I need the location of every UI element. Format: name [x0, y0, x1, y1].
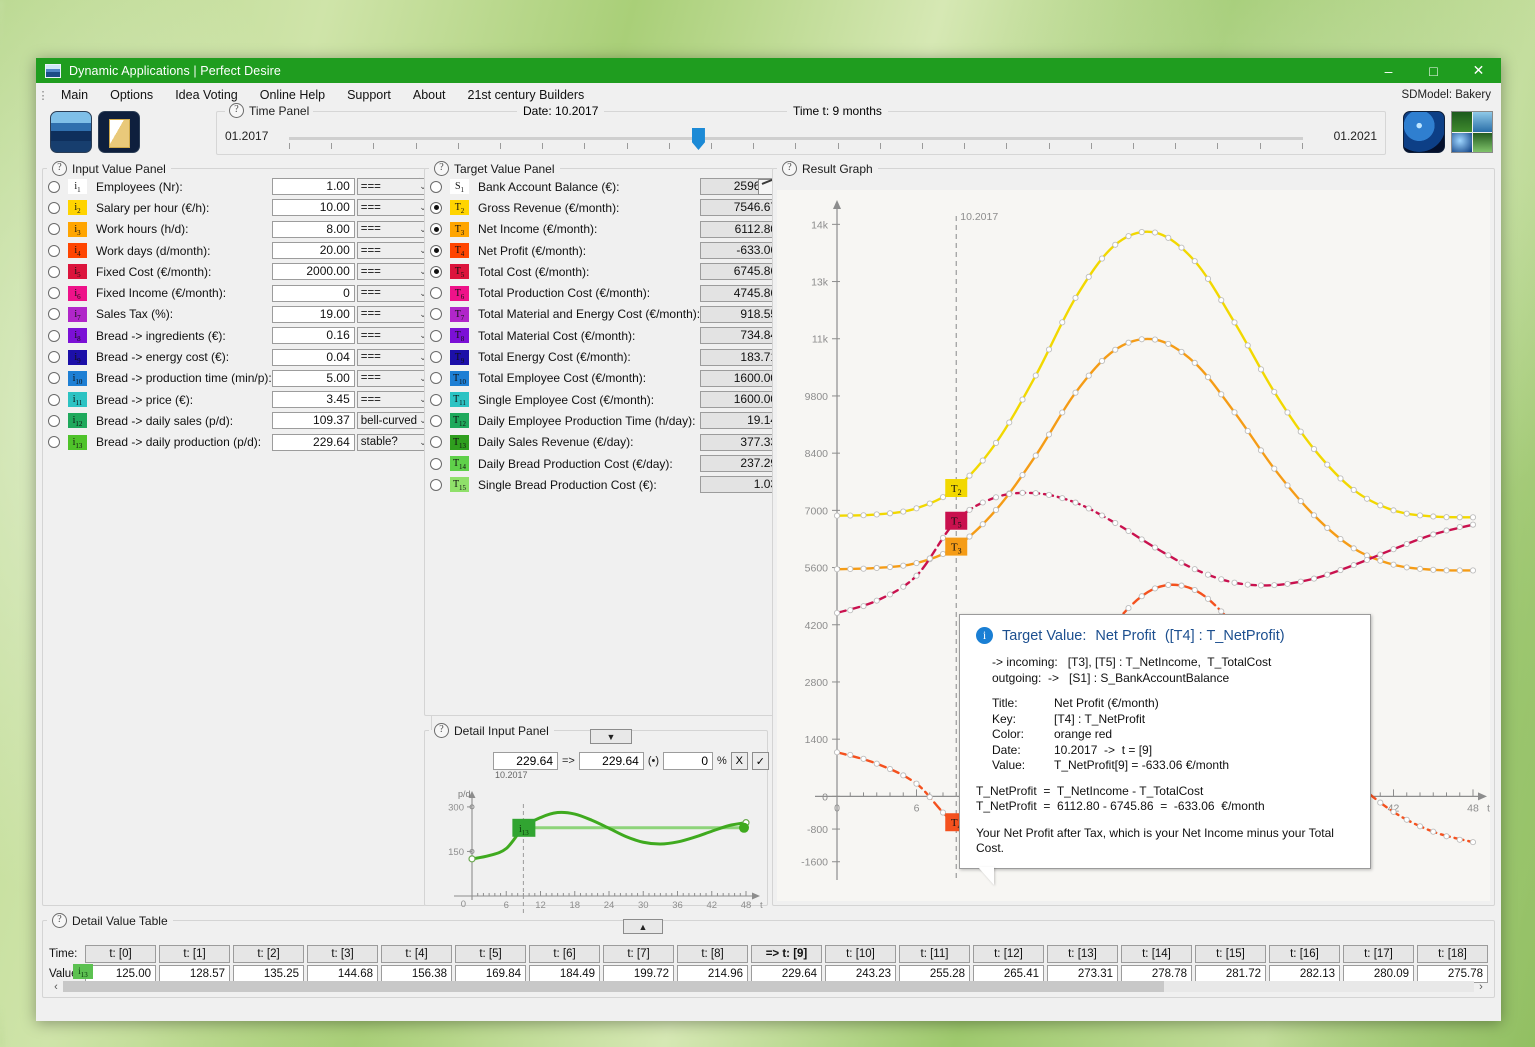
detail-table-col-header[interactable]: t: [3] [307, 945, 378, 963]
target-label-T4: Net Profit (€/month): [478, 244, 700, 258]
detail-table-toggle-button[interactable]: ▲ [623, 919, 663, 934]
target-radio-T12[interactable] [430, 415, 442, 427]
tooltip-title-prefix: Target Value: [1002, 628, 1086, 644]
menu-item-21st-century-builders[interactable]: 21st century Builders [457, 86, 596, 104]
detail-table-grid: Time: t: [0]t: [1]t: [2]t: [3]t: [4]t: [… [49, 944, 1488, 984]
tooltip-row-value: 10.2017 -> t = [9] [1054, 743, 1152, 757]
target-row-T15: T15Single Bread Production Cost (€):1.03 [425, 474, 786, 495]
target-badge-T13: T13 [450, 435, 469, 450]
svg-text:42: 42 [706, 900, 717, 911]
detail-input-dot-icon[interactable]: (•) [648, 755, 659, 767]
input-field-i1[interactable]: 1.00 [272, 178, 355, 195]
input-row-i12: i12Bread -> daily sales (p/d):109.37bell… [43, 410, 431, 431]
detail-table-col-header[interactable]: t: [2] [233, 945, 304, 963]
target-row-T3: T3Net Income (€/month):6112.80 [425, 219, 786, 240]
input-label-i2: Salary per hour (€/h): [96, 201, 272, 215]
time-start-label: 01.2017 [225, 129, 268, 143]
input-badge-i10: i10 [68, 371, 87, 386]
target-label-T3: Net Income (€/month): [478, 222, 700, 236]
target-badge-T15: T15 [450, 477, 469, 492]
input-badge-i1: i1 [68, 179, 87, 194]
target-value-T11: 1600.00 [700, 391, 782, 408]
input-row-i6: i6Fixed Income (€/month):0===⌄ [43, 282, 431, 303]
input-badge-i12: i12 [68, 413, 87, 428]
target-value-T6: 4745.86 [700, 285, 782, 302]
graph-series-tag-T2[interactable]: T2 [945, 479, 967, 497]
target-badge-T10: T10 [450, 371, 469, 386]
input-label-i10: Bread -> production time (min/p): [96, 371, 272, 385]
input-radio-i13[interactable] [48, 436, 60, 448]
detail-table-scrollbar[interactable]: ‹ › [49, 980, 1488, 993]
detail-input-title: Detail Input Panel [454, 724, 549, 738]
input-mode-select-i2[interactable]: ===⌄ [357, 199, 431, 216]
detail-table-col-header[interactable]: t: [4] [381, 945, 452, 963]
input-badge-i7: i7 [68, 307, 87, 322]
target-panel-title: Target Value Panel [454, 162, 555, 176]
svg-text:12: 12 [535, 900, 546, 911]
input-mode-select-i7[interactable]: ===⌄ [357, 306, 431, 323]
target-label-T14: Daily Bread Production Cost (€/day): [478, 457, 700, 471]
tooltip-row-key: Color: [992, 727, 1054, 743]
target-value-T14: 237.29 [700, 455, 782, 472]
input-badge-i3: i3 [68, 222, 87, 237]
input-label-i11: Bread -> price (€): [96, 393, 272, 407]
input-value-panel: ? Input Value Panel i1Employees (Nr):1.0… [42, 161, 432, 906]
input-label-i3: Work hours (h/d): [96, 222, 272, 236]
input-badge-i5: i5 [68, 264, 87, 279]
input-radio-i5[interactable] [48, 266, 60, 278]
target-value-T4: -633.06 [700, 242, 782, 259]
input-mode-select-i4[interactable]: ===⌄ [357, 242, 431, 259]
target-badge-T3: T3 [450, 222, 469, 237]
menu-item-support[interactable]: Support [336, 86, 402, 104]
target-row-T8: T8Total Material Cost (€/month):734.84 [425, 325, 786, 346]
title-bar: Dynamic Applications | Perfect Desire – … [36, 58, 1501, 83]
input-field-i2[interactable]: 10.00 [272, 199, 355, 216]
menu-item-idea-voting[interactable]: Idea Voting [164, 86, 249, 104]
window-title: Dynamic Applications | Perfect Desire [69, 64, 1366, 78]
application-window: Dynamic Applications | Perfect Desire – … [36, 58, 1501, 1021]
target-label-T2: Gross Revenue (€/month): [478, 201, 700, 215]
svg-text:p/d: p/d [458, 789, 471, 799]
detail-input-marker-tag[interactable]: i13 [512, 819, 535, 837]
help-icon[interactable]: ? [434, 161, 449, 176]
scroll-right-arrow[interactable]: › [1474, 981, 1488, 993]
close-button[interactable]: ✕ [1456, 58, 1501, 83]
target-value-T2: 7546.67 [700, 199, 782, 216]
tooltip-row-key: Title: [992, 696, 1054, 712]
detail-table-legend: ? Detail Value Table [47, 913, 173, 928]
tooltip-outgoing: outgoing: -> [S1] : S_BankAccountBalance [992, 671, 1356, 687]
detail-table-col-header[interactable]: t: [6] [529, 945, 600, 963]
toolbar: ? Time Panel Date: 10.2017 Time t: 9 mon… [36, 107, 1501, 157]
tooltip-row: Title:Net Profit (€/month) [992, 696, 1356, 712]
target-radio-S1[interactable] [430, 181, 442, 193]
help-icon[interactable]: ? [434, 723, 449, 738]
tooltip-row-value: [T4] : T_NetProfit [1054, 712, 1145, 726]
target-value-T9: 183.71 [700, 349, 782, 366]
input-row-i13: i13Bread -> daily production (p/d):229.6… [43, 432, 431, 453]
help-icon[interactable]: ? [782, 161, 797, 176]
input-radio-i2[interactable] [48, 202, 60, 214]
scrollbar-thumb[interactable] [63, 981, 1164, 992]
target-radio-T2[interactable] [430, 202, 442, 214]
input-mode-select-i10[interactable]: ===⌄ [357, 370, 431, 387]
input-badge-i8: i8 [68, 328, 87, 343]
target-badge-T12: T12 [450, 413, 469, 428]
input-field-i8[interactable]: 0.16 [272, 327, 355, 344]
input-badge-i6: i6 [68, 286, 87, 301]
tooltip-row-value: Net Profit (€/month) [1054, 696, 1159, 710]
input-mode-select-i1[interactable]: ===⌄ [357, 178, 431, 195]
target-row-T4: T4Net Profit (€/month):-633.06 [425, 240, 786, 261]
input-radio-i8[interactable] [48, 330, 60, 342]
target-label-T5: Total Cost (€/month): [478, 265, 700, 279]
app-logo-icon [45, 64, 61, 78]
detail-input-date-marker: 10.2017 [495, 770, 528, 780]
svg-text:0: 0 [834, 802, 840, 814]
input-mode-select-i12[interactable]: bell-curved⌄ [357, 412, 431, 429]
target-value-T7: 918.55 [700, 306, 782, 323]
tooltip-row-value: T_NetProfit[9] = -633.06 €/month [1054, 758, 1229, 772]
svg-text:6: 6 [504, 900, 509, 911]
target-row-T6: T6Total Production Cost (€/month):4745.8… [425, 282, 786, 303]
tooltip-row-key: Value: [992, 758, 1054, 774]
input-field-i5[interactable]: 2000.00 [272, 263, 355, 280]
target-radio-T9[interactable] [430, 351, 442, 363]
detail-input-arrow: => [562, 755, 575, 767]
target-badge-T9: T9 [450, 350, 469, 365]
input-field-i4[interactable]: 20.00 [272, 242, 355, 259]
input-radio-i12[interactable] [48, 415, 60, 427]
target-value-T13: 377.33 [700, 434, 782, 451]
detail-table-col-header[interactable]: t: [10] [825, 945, 896, 963]
input-mode-select-i3[interactable]: ===⌄ [357, 221, 431, 238]
time-row-label: Time: [49, 948, 85, 960]
input-row-i5: i5Fixed Cost (€/month):2000.00===⌄ [43, 261, 431, 282]
detail-table-col-header[interactable]: t: [1] [159, 945, 230, 963]
detail-table-col-header[interactable]: t: [14] [1121, 945, 1192, 963]
svg-text:t: t [760, 900, 763, 911]
info-icon: i [976, 627, 993, 644]
input-row-i10: i10Bread -> production time (min/p):5.00… [43, 368, 431, 389]
tooltip-row: Date:10.2017 -> t = [9] [992, 743, 1356, 759]
target-value-tooltip: i Target Value: Net Profit ([T4] : T_Net… [959, 614, 1371, 869]
target-radio-T5[interactable] [430, 266, 442, 278]
svg-text:2800: 2800 [805, 677, 829, 689]
detail-table-col-header[interactable]: => t: [9] [751, 945, 822, 963]
target-radio-T10[interactable] [430, 372, 442, 384]
input-panel-legend: ? Input Value Panel [47, 161, 171, 176]
target-badge-T11: T11 [450, 392, 469, 407]
target-row-T7: T7Total Material and Energy Cost (€/mont… [425, 304, 786, 325]
tooltip-formula-1: T_NetProfit = T_NetIncome - T_TotalCost [976, 784, 1356, 800]
time-t-label: Time t: 9 months [787, 104, 888, 118]
input-mode-select-i5[interactable]: ===⌄ [357, 263, 431, 280]
input-field-i10[interactable]: 5.00 [272, 370, 355, 387]
svg-text:8400: 8400 [805, 448, 829, 460]
svg-text:5600: 5600 [805, 563, 829, 575]
input-row-i7: i7Sales Tax (%):19.00===⌄ [43, 304, 431, 325]
svg-text:0: 0 [461, 899, 466, 910]
help-icon[interactable]: ? [52, 161, 67, 176]
input-label-i1: Employees (Nr): [96, 180, 272, 194]
detail-input-value-from[interactable]: 229.64 [493, 752, 558, 770]
input-label-i8: Bread -> ingredients (€): [96, 329, 272, 343]
svg-text:6: 6 [914, 802, 920, 814]
detail-input-panel: ? Detail Input Panel ▼ 229.64 => 229.64 … [424, 723, 768, 906]
detail-input-controls: 229.64 => 229.64 (•) 0 % X ✓ [493, 752, 769, 770]
menu-item-main[interactable]: Main [50, 86, 99, 104]
target-label-T15: Single Bread Production Cost (€): [478, 478, 700, 492]
svg-text:-800: -800 [807, 824, 828, 836]
input-row-i4: i4Work days (d/month):20.00===⌄ [43, 240, 431, 261]
target-radio-T11[interactable] [430, 394, 442, 406]
minimize-button[interactable]: – [1366, 58, 1411, 83]
target-radio-T8[interactable] [430, 330, 442, 342]
target-value-T8: 734.84 [700, 327, 782, 344]
detail-input-cancel-button[interactable]: X [731, 752, 748, 770]
target-row-S1: S1Bank Account Balance (€):2596.37 [425, 176, 786, 197]
target-label-T6: Total Production Cost (€/month): [478, 286, 700, 300]
detail-table-col-header[interactable]: t: [12] [973, 945, 1044, 963]
time-slider-ticks [289, 143, 1303, 152]
input-label-i12: Bread -> daily sales (p/d): [96, 414, 272, 428]
detail-input-value-to[interactable]: 229.64 [579, 752, 644, 770]
tooltip-row-value: orange red [1054, 727, 1112, 741]
input-badge-i9: i9 [68, 350, 87, 365]
result-graph-title: Result Graph [802, 162, 873, 176]
detail-table-col-header[interactable]: t: [17] [1343, 945, 1414, 963]
target-row-T9: T9Total Energy Cost (€/month):183.71 [425, 346, 786, 367]
svg-text:t: t [1487, 802, 1490, 814]
target-badge-T2: T2 [450, 200, 469, 215]
detail-value-table-panel: ? Detail Value Table ▲ Time: t: [0]t: [1… [42, 913, 1495, 998]
menu-item-online-help[interactable]: Online Help [249, 86, 336, 104]
input-row-i8: i8Bread -> ingredients (€):0.16===⌄ [43, 325, 431, 346]
input-badge-i11: i11 [68, 392, 87, 407]
detail-table-col-header[interactable]: t: [13] [1047, 945, 1118, 963]
input-row-i1: i1Employees (Nr):1.00===⌄ [43, 176, 431, 197]
input-label-i4: Work days (d/month): [96, 244, 272, 258]
svg-text:4200: 4200 [805, 620, 829, 632]
time-date-label: Date: 10.2017 [517, 104, 604, 118]
input-mode-select-i13[interactable]: stable?⌄ [357, 434, 431, 451]
globe-icon[interactable] [1403, 111, 1445, 153]
svg-text:48: 48 [741, 900, 752, 911]
svg-text:30: 30 [638, 900, 649, 911]
input-label-i5: Fixed Cost (€/month): [96, 265, 272, 279]
target-value-T10: 1600.00 [700, 370, 782, 387]
time-panel-title: Time Panel [249, 104, 309, 118]
target-label-S1: Bank Account Balance (€): [478, 180, 700, 194]
input-badge-i13: i13 [68, 435, 87, 450]
result-graph-legend: ? Result Graph [777, 161, 878, 176]
input-mode-select-i8[interactable]: ===⌄ [357, 327, 431, 344]
sdmodel-label: SDModel: Bakery [1402, 89, 1491, 101]
maximize-button[interactable]: □ [1411, 58, 1456, 83]
graph-series-tag-T3[interactable]: T3 [945, 538, 967, 556]
menu-item-options[interactable]: Options [99, 86, 164, 104]
image-grid-icon[interactable] [1451, 111, 1493, 153]
svg-text:18: 18 [569, 900, 580, 911]
detail-table-col-header[interactable]: t: [8] [677, 945, 748, 963]
percent-sign: % [717, 755, 727, 767]
svg-text:150: 150 [448, 847, 464, 858]
detail-table-col-header[interactable]: t: [15] [1195, 945, 1266, 963]
help-icon[interactable]: ? [52, 913, 67, 928]
input-badge-i4: i4 [68, 243, 87, 258]
target-badge-S1: S1 [450, 179, 469, 194]
svg-text:0: 0 [822, 791, 828, 803]
target-radio-T3[interactable] [430, 223, 442, 235]
target-radio-T7[interactable] [430, 308, 442, 320]
detail-table-col-header[interactable]: t: [18] [1417, 945, 1488, 963]
svg-text:1400: 1400 [805, 734, 829, 746]
detail-table-col-header[interactable]: t: [11] [899, 945, 970, 963]
svg-text:9800: 9800 [805, 391, 829, 403]
input-mode-select-i6[interactable]: ===⌄ [357, 285, 431, 302]
input-radio-i3[interactable] [48, 223, 60, 235]
input-field-i3[interactable]: 8.00 [272, 221, 355, 238]
time-slider-track[interactable] [289, 137, 1303, 140]
svg-text:24: 24 [604, 900, 615, 911]
target-value-T15: 1.03 [700, 476, 782, 493]
detail-input-percent[interactable]: 0 [663, 752, 713, 770]
menu-item-about[interactable]: About [402, 86, 457, 104]
input-panel-title: Input Value Panel [72, 162, 166, 176]
door-icon[interactable] [98, 111, 140, 153]
input-field-i7[interactable]: 19.00 [272, 306, 355, 323]
input-badge-i2: i2 [68, 200, 87, 215]
work-area: ? Input Value Panel i1Employees (Nr):1.0… [36, 157, 1501, 1021]
input-row-i9: i9Bread -> energy cost (€):0.04===⌄ [43, 346, 431, 367]
target-label-T11: Single Employee Cost (€/month): [478, 393, 700, 407]
svg-text:36: 36 [672, 900, 683, 911]
svg-text:7000: 7000 [805, 505, 829, 517]
target-badge-T6: T6 [450, 286, 469, 301]
detail-input-confirm-button[interactable]: ✓ [752, 752, 769, 770]
input-radio-i10[interactable] [48, 372, 60, 384]
detail-table-col-header[interactable]: t: [7] [603, 945, 674, 963]
target-badge-T7: T7 [450, 307, 469, 322]
tooltip-title-name: Net Profit [1095, 628, 1155, 644]
target-value-T3: 6112.80 [700, 221, 782, 238]
scrollbar-track[interactable] [63, 981, 1474, 992]
result-graph-panel: ? Result Graph -1600-8000140028004200560… [772, 161, 1495, 906]
tooltip-header: i Target Value: Net Profit ([T4] : T_Net… [976, 627, 1356, 644]
tooltip-row-key: Key: [992, 712, 1054, 728]
target-row-T5: T5Total Cost (€/month):6745.86 [425, 261, 786, 282]
input-field-i6[interactable]: 0 [272, 285, 355, 302]
result-graph-canvas[interactable]: -1600-8000140028004200560070008400980011… [777, 190, 1490, 901]
time-end-label: 01.2021 [1334, 129, 1377, 143]
input-radio-i1[interactable] [48, 181, 60, 193]
tooltip-row: Value:T_NetProfit[9] = -633.06 €/month [992, 758, 1356, 774]
input-label-i7: Sales Tax (%): [96, 307, 272, 321]
target-radio-T6[interactable] [430, 287, 442, 299]
input-radio-i9[interactable] [48, 351, 60, 363]
input-row-i11: i11Bread -> price (€):3.45===⌄ [43, 389, 431, 410]
target-badge-T5: T5 [450, 264, 469, 279]
detail-table-col-header[interactable]: t: [5] [455, 945, 526, 963]
detail-table-title: Detail Value Table [72, 914, 168, 928]
input-radio-i4[interactable] [48, 245, 60, 257]
input-field-i12[interactable]: 109.37 [272, 412, 355, 429]
help-icon[interactable]: ? [229, 103, 244, 118]
tooltip-incoming: -> incoming: [T3], [T5] : T_NetIncome, T… [992, 655, 1356, 671]
target-row-T13: T13Daily Sales Revenue (€/day):377.33 [425, 432, 786, 453]
graph-series-tag-T5[interactable]: T5 [945, 512, 967, 530]
input-mode-select-i9[interactable]: ===⌄ [357, 349, 431, 366]
svg-text:14k: 14k [811, 219, 829, 231]
detail-input-legend: ? Detail Input Panel [429, 723, 554, 738]
target-label-T7: Total Material and Energy Cost (€/month)… [478, 307, 700, 321]
tooltip-row: Color:orange red [992, 727, 1356, 743]
target-row-T2: T2Gross Revenue (€/month):7546.67 [425, 197, 786, 218]
target-label-T12: Daily Employee Production Time (h/day): [478, 414, 700, 428]
target-radio-T15[interactable] [430, 479, 442, 491]
detail-table-header-row: Time: t: [0]t: [1]t: [2]t: [3]t: [4]t: [… [49, 944, 1488, 964]
svg-text:300: 300 [448, 802, 464, 813]
target-row-T10: T10Total Employee Cost (€/month):1600.00 [425, 368, 786, 389]
input-mode-select-i11[interactable]: ===⌄ [357, 391, 431, 408]
time-panel: ? Time Panel Date: 10.2017 Time t: 9 mon… [216, 111, 1386, 155]
input-radio-i7[interactable] [48, 308, 60, 320]
menu-grip-icon: ⋮ [36, 89, 50, 102]
target-radio-T4[interactable] [430, 245, 442, 257]
input-row-i2: i2Salary per hour (€/h):10.00===⌄ [43, 197, 431, 218]
target-label-T9: Total Energy Cost (€/month): [478, 350, 700, 364]
input-field-i13[interactable]: 229.64 [272, 434, 355, 451]
target-label-T10: Total Employee Cost (€/month): [478, 371, 700, 385]
svg-text:11k: 11k [812, 334, 829, 346]
target-label-T13: Daily Sales Revenue (€/day): [478, 435, 700, 449]
detail-table-col-header[interactable]: t: [16] [1269, 945, 1340, 963]
input-row-i3: i3Work hours (h/d):8.00===⌄ [43, 219, 431, 240]
target-panel-legend: ? Target Value Panel [429, 161, 560, 176]
tooltip-pointer [978, 867, 994, 885]
input-rows: i1Employees (Nr):1.00===⌄i2Salary per ho… [43, 176, 431, 453]
target-badge-T14: T14 [450, 456, 469, 471]
input-label-i13: Bread -> daily production (p/d): [96, 435, 272, 449]
input-label-i6: Fixed Income (€/month): [96, 286, 272, 300]
input-radio-i11[interactable] [48, 394, 60, 406]
svg-text:48: 48 [1467, 802, 1479, 814]
input-field-i11[interactable]: 3.45 [272, 391, 355, 408]
target-radio-T14[interactable] [430, 458, 442, 470]
seascape-icon[interactable] [50, 111, 92, 153]
tooltip-row-key: Date: [992, 743, 1054, 759]
tooltip-formula-2: T_NetProfit = 6112.80 - 6745.86 = -633.0… [976, 799, 1356, 815]
input-radio-i6[interactable] [48, 287, 60, 299]
detail-table-series-badge: i13 [73, 964, 93, 979]
scroll-left-arrow[interactable]: ‹ [49, 981, 63, 993]
detail-input-dropdown[interactable]: ▼ [590, 729, 632, 744]
tooltip-detail-rows: Title:Net Profit (€/month)Key:[T4] : T_N… [976, 696, 1356, 774]
target-rows: S1Bank Account Balance (€):2596.37T2Gros… [425, 176, 786, 495]
target-value-T12: 19.14 [700, 412, 782, 429]
tooltip-row: Key:[T4] : T_NetProfit [992, 712, 1356, 728]
detail-input-chart: p/d1503000612182430364248ti13 [428, 786, 764, 916]
svg-text:-1600: -1600 [801, 857, 828, 869]
target-row-T11: T11Single Employee Cost (€/month):1600.0… [425, 389, 786, 410]
target-radio-T13[interactable] [430, 436, 442, 448]
target-badge-T8: T8 [450, 328, 469, 343]
detail-table-col-header[interactable]: t: [0] [85, 945, 156, 963]
input-field-i9[interactable]: 0.04 [272, 349, 355, 366]
target-value-T5: 6745.86 [700, 263, 782, 280]
